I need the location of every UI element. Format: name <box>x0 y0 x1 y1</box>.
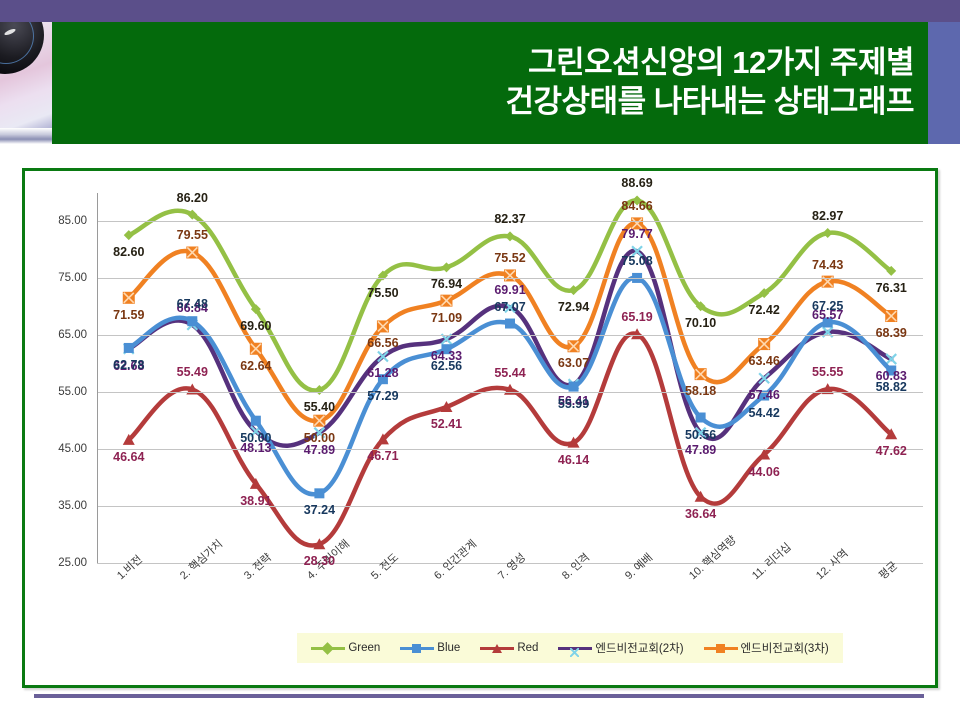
chart-data-label: 82.97 <box>812 209 843 223</box>
chart-data-label: 57.29 <box>367 389 398 403</box>
chart-data-label: 36.64 <box>685 507 716 521</box>
chart-data-label: 74.43 <box>812 258 843 272</box>
chart-marker-Blue <box>696 413 706 423</box>
chart-data-label: 67.07 <box>494 300 525 314</box>
slide-title-line-2: 건강상태를 나타내는 상태그래프 <box>505 83 914 122</box>
top-accent-band <box>0 0 960 22</box>
legend-item-Green[interactable]: Green <box>311 642 380 654</box>
chart-data-label: 50.00 <box>240 431 271 445</box>
y-axis-tick-label: 35.00 <box>35 500 87 512</box>
chart-data-label: 69.60 <box>240 319 271 333</box>
chart-gridline <box>97 278 923 279</box>
chart-marker-엔드비전교회(3차) <box>186 246 198 258</box>
chart-marker-엔드비전교회(3차) <box>440 295 452 307</box>
legend-swatch-icon <box>558 642 592 654</box>
y-axis-tick-label: 75.00 <box>35 272 87 284</box>
slide-title-box: 그린오션신앙의 12가지 주제별 건강상태를 나타내는 상태그래프 <box>52 22 928 144</box>
chart-marker-Blue <box>505 319 515 329</box>
legend-swatch-icon <box>400 642 434 654</box>
chart-data-label: 70.10 <box>685 316 716 330</box>
chart-frame: 25.0035.0045.0055.0065.0075.0085.001.비전2… <box>22 168 938 688</box>
chart-data-label: 55.55 <box>812 365 843 379</box>
chart-marker-Green <box>823 228 833 238</box>
chart-legend: GreenBlueRed엔드비전교회(2차)엔드비전교회(3차) <box>297 633 843 663</box>
legend-label: Green <box>348 642 380 654</box>
y-axis-tick-label: 65.00 <box>35 329 87 341</box>
chart-gridline <box>97 392 923 393</box>
chart-data-label: 82.60 <box>113 245 144 259</box>
chart-data-label: 61.28 <box>367 366 398 380</box>
chart-marker-엔드비전교회(3차) <box>377 320 389 332</box>
chart-data-label: 62.56 <box>431 359 462 373</box>
legend-item-Blue[interactable]: Blue <box>400 642 460 654</box>
image-foot-gradient <box>0 128 52 144</box>
chart-data-label: 75.52 <box>494 251 525 265</box>
chart-data-label: 76.94 <box>431 277 462 291</box>
legend-item-엔드비전교회(2차)[interactable]: 엔드비전교회(2차) <box>558 640 683 656</box>
chart-plot-area: 25.0035.0045.0055.0065.0075.0085.001.비전2… <box>25 171 935 685</box>
legend-label: 엔드비전교회(2차) <box>595 640 683 656</box>
chart-data-label: 75.50 <box>367 286 398 300</box>
legend-item-엔드비전교회(3차)[interactable]: 엔드비전교회(3차) <box>704 640 829 656</box>
legend-swatch-icon <box>704 642 738 654</box>
y-axis-line <box>97 193 98 563</box>
legend-swatch-icon <box>311 642 345 654</box>
chart-data-label: 55.44 <box>494 366 525 380</box>
chart-data-label: 50.56 <box>685 428 716 442</box>
chart-data-label: 67.48 <box>177 297 208 311</box>
bottom-accent-rule <box>34 694 924 698</box>
chart-data-label: 71.09 <box>431 311 462 325</box>
chart-data-label: 44.06 <box>749 465 780 479</box>
y-axis-tick-label: 25.00 <box>35 557 87 569</box>
chart-data-label: 72.42 <box>749 303 780 317</box>
chart-marker-엔드비전교회(3차) <box>123 292 135 304</box>
chart-data-label: 54.42 <box>749 406 780 420</box>
chart-data-label: 63.46 <box>749 354 780 368</box>
chart-data-label: 55.49 <box>177 365 208 379</box>
chart-data-label: 46.14 <box>558 453 589 467</box>
legend-label: Red <box>517 642 538 654</box>
chart-data-label: 57.46 <box>749 388 780 402</box>
chart-marker-엔드비전교회(3차) <box>568 340 580 352</box>
chart-marker-엔드비전교회(3차) <box>250 343 262 355</box>
legend-swatch-icon <box>480 642 514 654</box>
chart-data-label: 52.41 <box>431 417 462 431</box>
legend-label: Blue <box>437 642 460 654</box>
chart-marker-엔드비전교회(3차) <box>758 338 770 350</box>
right-accent-block <box>928 22 960 144</box>
legend-item-Red[interactable]: Red <box>480 642 538 654</box>
chart-data-label: 84.66 <box>621 199 652 213</box>
chart-gridline <box>97 449 923 450</box>
chart-gridline <box>97 506 923 507</box>
chart-marker-Blue <box>314 488 324 498</box>
chart-data-label: 66.56 <box>367 336 398 350</box>
chart-data-label: 55.40 <box>304 400 335 414</box>
chart-data-label: 88.69 <box>621 176 652 190</box>
chart-data-label: 58.18 <box>685 384 716 398</box>
chart-data-label: 62.78 <box>113 358 144 372</box>
chart-marker-엔드비전교회(3차) <box>695 368 707 380</box>
chart-gridline <box>97 335 923 336</box>
chart-data-label: 68.39 <box>876 326 907 340</box>
y-axis-tick-label: 55.00 <box>35 386 87 398</box>
chart-marker-Green <box>505 231 515 241</box>
chart-data-label: 55.99 <box>558 397 589 411</box>
slide-title-line-1: 그린오션신앙의 12가지 주제별 <box>528 44 914 83</box>
chart-data-label: 46.64 <box>113 450 144 464</box>
chart-data-label: 65.19 <box>621 310 652 324</box>
chart-marker-Blue <box>569 382 579 392</box>
decorative-globe-image <box>0 22 52 144</box>
chart-data-label: 47.89 <box>685 443 716 457</box>
chart-marker-Blue <box>251 416 261 426</box>
chart-data-label: 82.37 <box>494 212 525 226</box>
chart-data-label: 79.77 <box>621 227 652 241</box>
y-axis-tick-label: 85.00 <box>35 215 87 227</box>
chart-data-label: 67.25 <box>812 299 843 313</box>
chart-data-label: 47.89 <box>304 443 335 457</box>
chart-marker-엔드비전교회(3차) <box>504 269 516 281</box>
chart-data-label: 71.59 <box>113 308 144 322</box>
chart-data-label: 37.24 <box>304 503 335 517</box>
chart-data-label: 62.64 <box>240 359 271 373</box>
chart-marker-엔드비전교회(3차) <box>885 310 897 322</box>
chart-data-label: 76.31 <box>876 281 907 295</box>
chart-data-label: 38.91 <box>240 494 271 508</box>
chart-data-label: 47.62 <box>876 444 907 458</box>
chart-marker-Blue <box>187 316 197 326</box>
y-axis-tick-label: 45.00 <box>35 443 87 455</box>
chart-data-label: 58.82 <box>876 380 907 394</box>
chart-data-label: 86.20 <box>177 191 208 205</box>
chart-data-label: 79.55 <box>177 228 208 242</box>
chart-series-svg <box>25 171 935 685</box>
chart-data-label: 28.30 <box>304 554 335 568</box>
chart-marker-Blue <box>124 343 134 353</box>
legend-label: 엔드비전교회(3차) <box>741 640 829 656</box>
chart-data-label: 72.94 <box>558 300 589 314</box>
chart-marker-엔드비전교회(3차) <box>313 415 325 427</box>
chart-data-label: 46.71 <box>367 449 398 463</box>
chart-data-label: 69.91 <box>494 283 525 297</box>
slide: 그린오션신앙의 12가지 주제별 건강상태를 나타내는 상태그래프 25.003… <box>0 0 960 720</box>
chart-data-label: 63.07 <box>558 356 589 370</box>
chart-data-label: 75.08 <box>621 254 652 268</box>
